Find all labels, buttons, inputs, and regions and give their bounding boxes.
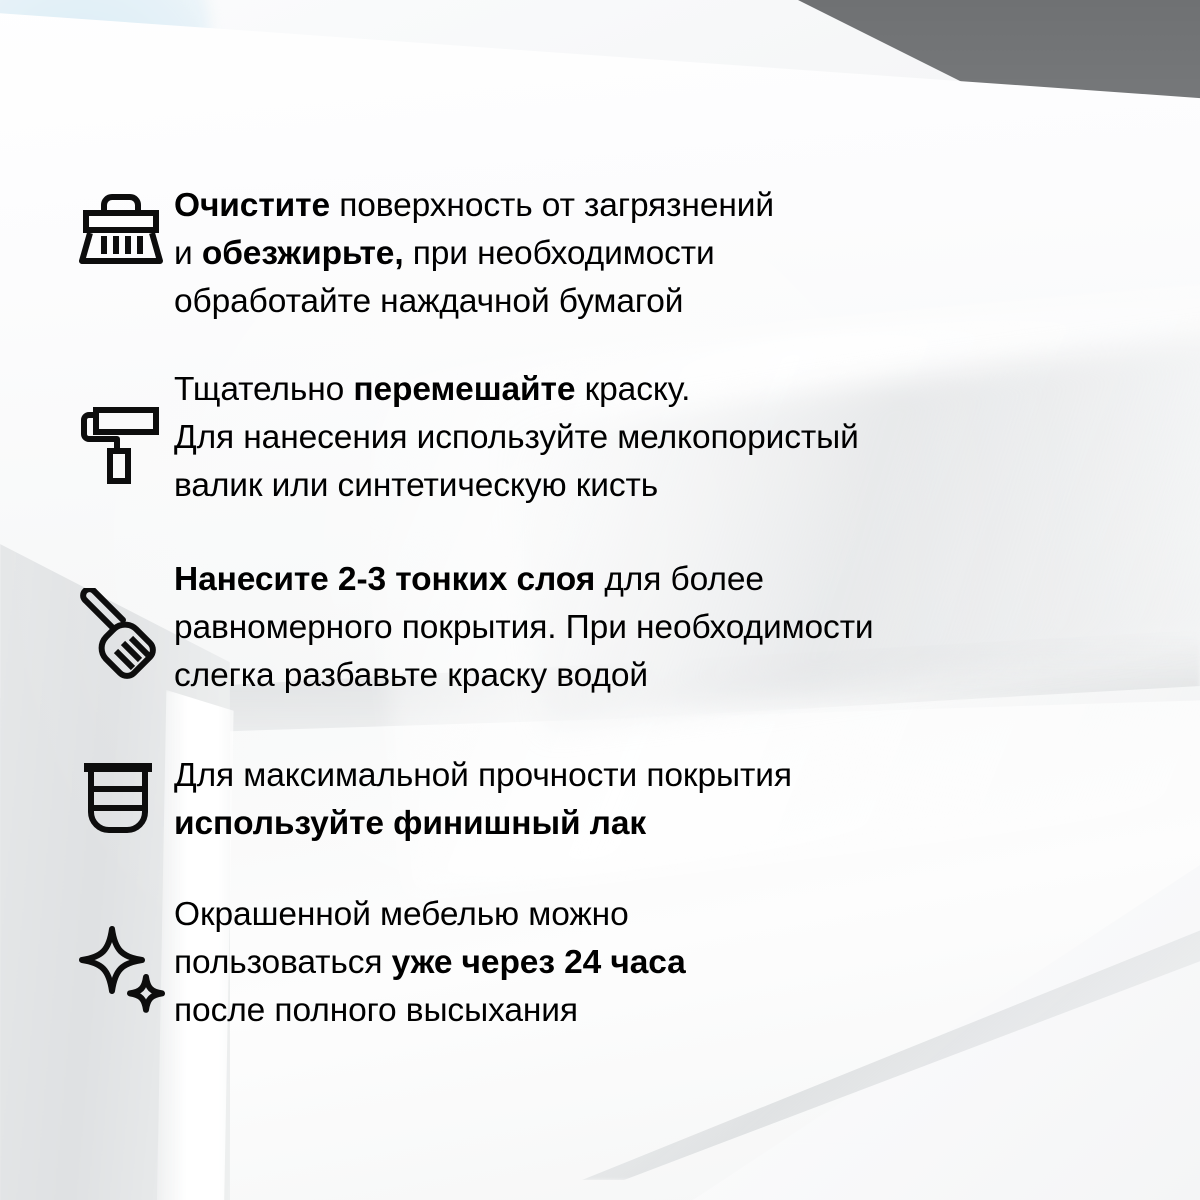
step-text: Нанесите 2-3 тонких слоя для болееравном…: [174, 556, 874, 700]
paint-roller-icon: [78, 366, 174, 488]
paint-brush-icon: [78, 556, 174, 680]
varnish-can-icon: [78, 752, 174, 838]
step-item-mix: Тщательно перемешайте краску.Для нанесен…: [78, 366, 859, 510]
step-text: Для максимальной прочности покрытияиспол…: [174, 752, 792, 848]
step-text: Очистите поверхность от загрязненийи обе…: [174, 182, 774, 326]
step-item-ready-to-use: Окрашенной мебелью можнопользоваться уже…: [78, 891, 686, 1035]
sparkle-icon: [78, 891, 174, 1017]
step-text: Тщательно перемешайте краску.Для нанесен…: [174, 366, 859, 510]
instruction-card: Очистите поверхность от загрязненийи обе…: [0, 0, 1200, 1200]
step-item-finish-varnish: Для максимальной прочности покрытияиспол…: [78, 752, 792, 848]
scrub-brush-icon: [78, 182, 174, 266]
step-text: Окрашенной мебелью можнопользоваться уже…: [174, 891, 686, 1035]
step-item-apply-coats: Нанесите 2-3 тонких слоя для болееравном…: [78, 556, 874, 700]
steps-list: Очистите поверхность от загрязненийи обе…: [0, 0, 1200, 1200]
step-item-clean: Очистите поверхность от загрязненийи обе…: [78, 182, 774, 326]
